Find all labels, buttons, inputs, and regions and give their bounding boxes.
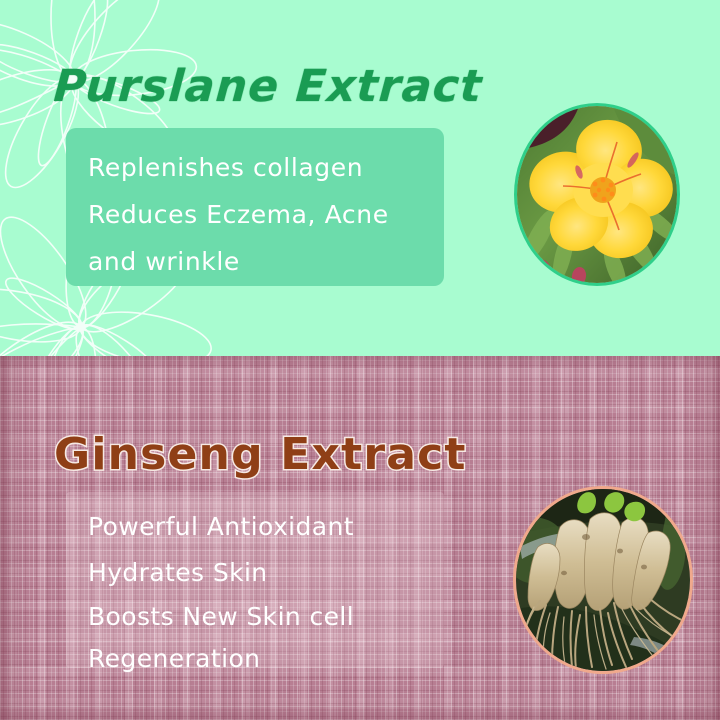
ginseng-root-photo <box>513 486 693 674</box>
list-item: Boosts New Skin cell <box>88 596 438 638</box>
section-purslane: Purslane Extract Replenishes collagen Re… <box>0 0 720 356</box>
benefits-box-ginseng: Powerful Antioxidant Hydrates Skin Boost… <box>66 492 444 668</box>
benefits-list-purslane: Replenishes collagen Reduces Eczema, Acn… <box>88 144 434 285</box>
list-item: Regeneration <box>88 638 438 680</box>
list-item: and wrinkle <box>88 238 434 285</box>
benefits-list-ginseng: Powerful Antioxidant Hydrates Skin Boost… <box>88 504 438 680</box>
purslane-flower-illustration <box>517 106 677 283</box>
list-item: Powerful Antioxidant <box>88 504 438 550</box>
page-title-ginseng: Ginseng Extract <box>54 433 467 477</box>
list-item: Hydrates Skin <box>88 550 438 596</box>
list-item: Replenishes collagen <box>88 144 434 191</box>
list-item: Reduces Eczema, Acne <box>88 191 434 238</box>
product-ingredient-poster: Purslane Extract Replenishes collagen Re… <box>0 0 720 720</box>
benefits-box-purslane: Replenishes collagen Reduces Eczema, Acn… <box>66 128 444 286</box>
ginseng-root-illustration <box>516 489 690 671</box>
page-title-purslane: Purslane Extract <box>52 65 483 109</box>
purslane-flower-photo <box>514 103 680 286</box>
